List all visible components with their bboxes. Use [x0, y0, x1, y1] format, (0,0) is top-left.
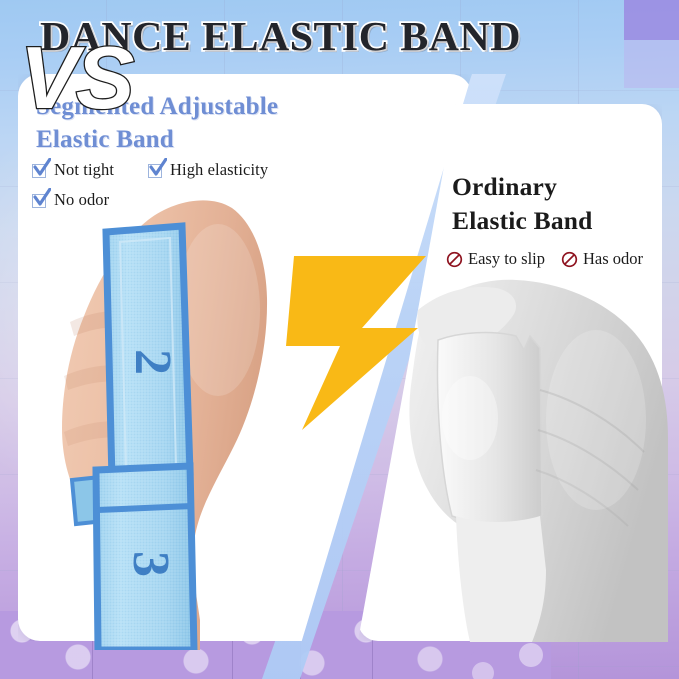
- band-segment-number-3-layer: 3: [58, 480, 238, 640]
- right-panel-heading: Ordinary Elastic Band: [452, 170, 679, 238]
- left-heading-line-2: Elastic Band: [36, 123, 396, 156]
- feature-item-high-elasticity: High elasticity: [148, 160, 268, 180]
- band-segment-number-3: 3: [122, 551, 179, 577]
- checkbox-checked-icon: [32, 162, 49, 179]
- background-purple-tile-secondary: [624, 40, 679, 88]
- drawback-item-easy-to-slip: Easy to slip: [446, 249, 545, 269]
- feature-label: No odor: [54, 190, 109, 210]
- versus-label: VS: [20, 34, 190, 122]
- prohibition-icon: [561, 251, 578, 268]
- band-segment-number-2: 2: [124, 349, 181, 375]
- drawback-label: Easy to slip: [468, 249, 545, 269]
- drawback-label: Has odor: [583, 249, 643, 269]
- right-heading-line-2: Elastic Band: [452, 204, 679, 238]
- feature-label: Not tight: [54, 160, 114, 180]
- prohibition-icon: [446, 251, 463, 268]
- feature-label: High elasticity: [170, 160, 268, 180]
- lightning-bolt-icon: [258, 242, 448, 432]
- right-heading-line-1: Ordinary: [452, 170, 679, 204]
- feature-item-not-tight: Not tight: [32, 160, 114, 180]
- infographic-canvas: 2 3: [0, 0, 679, 679]
- checkbox-checked-icon: [148, 162, 165, 179]
- drawback-item-has-odor: Has odor: [561, 249, 643, 269]
- checkbox-checked-icon: [32, 192, 49, 209]
- feature-item-no-odor: No odor: [32, 190, 109, 210]
- background-purple-tile: [624, 0, 679, 40]
